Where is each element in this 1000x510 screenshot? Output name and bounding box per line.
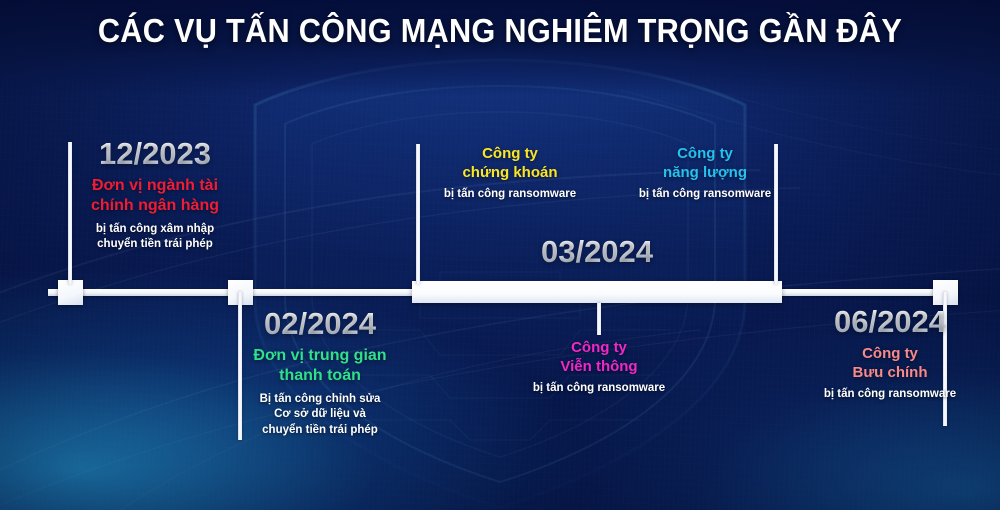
entry-description: bị tấn công ransomware bbox=[420, 187, 600, 202]
entry-desc-line: bị tấn công ransomware bbox=[615, 187, 795, 202]
timeline-segment-middle-highlight bbox=[412, 281, 782, 303]
entry-desc-line: bị tấn công ransomware bbox=[509, 381, 689, 396]
entry-date: 12/2023 bbox=[24, 138, 286, 171]
timeline-entry-telecom: Công ty Viễn thông bị tấn công ransomwar… bbox=[509, 338, 689, 397]
entry-desc-line: chuyển tiền trái phép bbox=[195, 423, 445, 438]
entry-desc-line: bị tấn công xâm nhập bbox=[24, 222, 286, 237]
entry-organization: Công ty chứng khoán bbox=[420, 144, 600, 182]
entry-organization: Đơn vị trung gian thanh toán bbox=[195, 346, 445, 387]
entry-desc-line: Bị tấn công chỉnh sửa bbox=[195, 392, 445, 407]
entry-desc-line: chuyển tiền trái phép bbox=[24, 237, 286, 252]
timeline-entry-securities: Công ty chứng khoán bị tấn công ransomwa… bbox=[420, 144, 600, 203]
entry-org-line: chứng khoán bbox=[420, 163, 600, 182]
entry-org-line: Công ty bbox=[790, 344, 990, 363]
entry-description: bị tấn công xâm nhập chuyển tiền trái ph… bbox=[24, 222, 286, 253]
entry-description: Bị tấn công chỉnh sửa Cơ sở dữ liệu và c… bbox=[195, 392, 445, 438]
timeline-entry-energy: Công ty năng lượng bị tấn công ransomwar… bbox=[615, 144, 795, 203]
entry-org-line: Công ty bbox=[420, 144, 600, 163]
timeline-segment-right bbox=[775, 289, 958, 296]
entry-org-line: Viễn thông bbox=[509, 357, 689, 376]
entry-org-line: Bưu chính bbox=[790, 363, 990, 382]
entry-org-line: Công ty bbox=[615, 144, 795, 163]
timeline-entry-02-2024: 02/2024 Đơn vị trung gian thanh toán Bị … bbox=[195, 308, 445, 438]
entry-organization: Công ty năng lượng bbox=[615, 144, 795, 182]
timeline-stem-5 bbox=[597, 303, 601, 335]
entry-org-line: năng lượng bbox=[615, 163, 795, 182]
entry-desc-line: bị tấn công ransomware bbox=[790, 387, 990, 402]
entry-description: bị tấn công ransomware bbox=[790, 387, 990, 402]
timeline-entry-06-2024: 06/2024 Công ty Bưu chính bị tấn công ra… bbox=[790, 306, 990, 403]
entry-org-line: Công ty bbox=[509, 338, 689, 357]
entry-description: bị tấn công ransomware bbox=[509, 381, 689, 396]
entry-date: 02/2024 bbox=[195, 308, 445, 341]
entry-org-line: chính ngân hàng bbox=[24, 196, 286, 216]
timeline-middle-date: 03/2024 bbox=[412, 234, 782, 270]
entry-description: bị tấn công ransomware bbox=[615, 187, 795, 202]
entry-organization: Công ty Viễn thông bbox=[509, 338, 689, 376]
entry-org-line: Đơn vị ngành tài bbox=[24, 176, 286, 196]
entry-desc-line: Cơ sở dữ liệu và bbox=[195, 407, 445, 422]
entry-org-line: thanh toán bbox=[195, 366, 445, 386]
entry-organization: Công ty Bưu chính bbox=[790, 344, 990, 382]
infographic-canvas: CÁC VỤ TẤN CÔNG MẠNG NGHIÊM TRỌNG GẦN ĐÂ… bbox=[0, 0, 1000, 510]
entry-organization: Đơn vị ngành tài chính ngân hàng bbox=[24, 176, 286, 217]
timeline-entry-12-2023: 12/2023 Đơn vị ngành tài chính ngân hàng… bbox=[24, 138, 286, 253]
entry-desc-line: bị tấn công ransomware bbox=[420, 187, 600, 202]
entry-date: 06/2024 bbox=[790, 306, 990, 339]
entry-org-line: Đơn vị trung gian bbox=[195, 346, 445, 366]
page-title: CÁC VỤ TẤN CÔNG MẠNG NGHIÊM TRỌNG GẦN ĐÂ… bbox=[35, 12, 965, 50]
